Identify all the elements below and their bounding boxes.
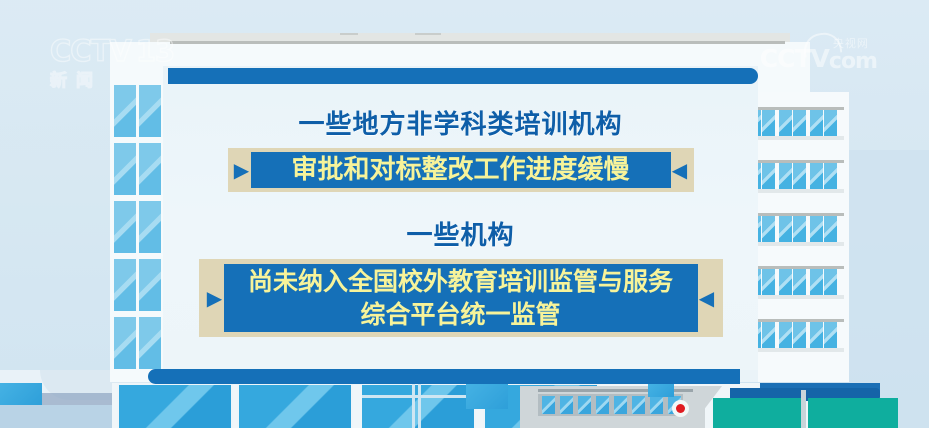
building-window <box>114 317 136 369</box>
building-window <box>139 85 161 137</box>
building-window <box>114 143 136 195</box>
building-window <box>139 201 161 253</box>
building-window <box>810 322 823 348</box>
block-2-heading: 一些机构 <box>163 215 758 252</box>
annex-window <box>596 396 609 414</box>
site-watermark-suffix: com <box>829 50 877 73</box>
right-building-floor <box>744 163 849 191</box>
block-1-heading: 一些地方非学科类培训机构 <box>163 104 758 141</box>
hedge-right <box>808 398 898 428</box>
building-window <box>762 216 775 242</box>
building-window <box>762 322 775 348</box>
block-1-band-text: 审批和对标整改工作进度缓慢 <box>251 152 671 188</box>
building-roof-edge <box>170 41 785 44</box>
channel-number-text: 13 <box>136 34 174 68</box>
channel-watermark: CCTV 13 新闻 <box>50 34 180 86</box>
building-window <box>779 269 792 295</box>
entrance-mullion <box>412 383 415 428</box>
building-window <box>762 163 775 189</box>
floor-shadow <box>744 242 844 246</box>
recording-dot-icon <box>672 400 689 417</box>
block-2-line-1: 尚未纳入全国校外教育培训监管与服务 <box>248 265 673 298</box>
building-window <box>114 201 136 253</box>
block-2-band: ▶ 尚未纳入全国校外教育培训监管与服务 综合平台统一监管 ◀ <box>199 259 723 337</box>
hedge-post <box>801 390 806 428</box>
building-window <box>793 322 806 348</box>
left-arrow-icon: ▶ <box>233 160 251 180</box>
building-window <box>793 269 806 295</box>
right-arrow-icon: ◀ <box>671 160 689 180</box>
building-window <box>779 163 792 189</box>
building-window <box>139 259 161 311</box>
building-window <box>139 143 161 195</box>
building-window <box>114 85 136 137</box>
block-1-line-1: 审批和对标整改工作进度缓慢 <box>291 152 629 188</box>
building-window <box>810 216 823 242</box>
accent-triangle-mid <box>466 383 508 409</box>
channel-watermark-text: CCTV <box>50 34 131 68</box>
building-window <box>810 163 823 189</box>
building-window <box>824 110 837 136</box>
annex-window <box>578 396 591 414</box>
right-building-floor <box>744 110 849 138</box>
right-building-floor <box>744 216 849 244</box>
annex-window <box>542 396 555 414</box>
building-window <box>824 269 837 295</box>
site-watermark-cn: 央视网 <box>833 38 877 50</box>
annex-window <box>614 396 627 414</box>
right-arrow-icon-2: ◀ <box>698 288 716 308</box>
left-window-row <box>114 317 162 369</box>
roof-detail-1 <box>340 33 358 35</box>
floor-shadow <box>744 136 844 140</box>
roof-detail-2 <box>415 33 441 35</box>
right-building-floor <box>744 322 849 350</box>
left-window-row <box>114 85 162 137</box>
hedge-left <box>713 398 801 428</box>
annex-window <box>650 396 663 414</box>
left-window-column <box>114 85 162 375</box>
building-window <box>114 259 136 311</box>
site-watermark: CCTV 央视网 com <box>760 38 877 73</box>
ground-floor-glass <box>117 383 233 428</box>
block-2-band-text: 尚未纳入全国校外教育培训监管与服务 综合平台统一监管 <box>224 264 698 332</box>
building-window <box>810 110 823 136</box>
channel-sub-text: 新闻 <box>50 66 180 91</box>
accent-triangle-right <box>648 383 674 397</box>
annex-window <box>632 396 645 414</box>
site-watermark-text: CCTV <box>760 44 829 73</box>
right-building <box>744 92 849 382</box>
block-2-line-2: 综合平台统一监管 <box>360 298 560 331</box>
building-window <box>810 269 823 295</box>
info-block-1: 一些地方非学科类培训机构 ▶ 审批和对标整改工作进度缓慢 ◀ <box>163 104 758 192</box>
left-window-row <box>114 259 162 311</box>
floor-shadow <box>744 295 844 299</box>
building-window <box>824 163 837 189</box>
building-window <box>779 110 792 136</box>
right-building-floor <box>744 269 849 297</box>
left-arrow-icon-2: ▶ <box>206 288 224 308</box>
ground-floor-glass <box>237 383 353 428</box>
building-window <box>824 322 837 348</box>
floor-shadow <box>744 348 844 352</box>
info-block-2: 一些机构 ▶ 尚未纳入全国校外教育培训监管与服务 综合平台统一监管 ◀ <box>163 215 758 337</box>
left-window-row <box>114 201 162 253</box>
floor-shadow <box>744 189 844 193</box>
building-window <box>779 322 792 348</box>
building-window <box>793 163 806 189</box>
entrance-crossbar <box>362 395 472 398</box>
building-window <box>793 110 806 136</box>
accent-triangle-left <box>0 383 42 405</box>
building-window <box>762 110 775 136</box>
panel-top-bar <box>168 68 758 84</box>
building-window <box>139 317 161 369</box>
block-1-band: ▶ 审批和对标整改工作进度缓慢 ◀ <box>228 148 694 192</box>
building-window <box>779 216 792 242</box>
entrance-mullion <box>418 383 421 428</box>
building-window <box>793 216 806 242</box>
broadcast-frame: 一些地方非学科类培训机构 ▶ 审批和对标整改工作进度缓慢 ◀ 一些机构 ▶ 尚未… <box>0 0 929 428</box>
building-window <box>824 216 837 242</box>
panel-bottom-bar <box>148 369 740 384</box>
building-window <box>762 269 775 295</box>
left-window-row <box>114 143 162 195</box>
annex-window <box>560 396 573 414</box>
